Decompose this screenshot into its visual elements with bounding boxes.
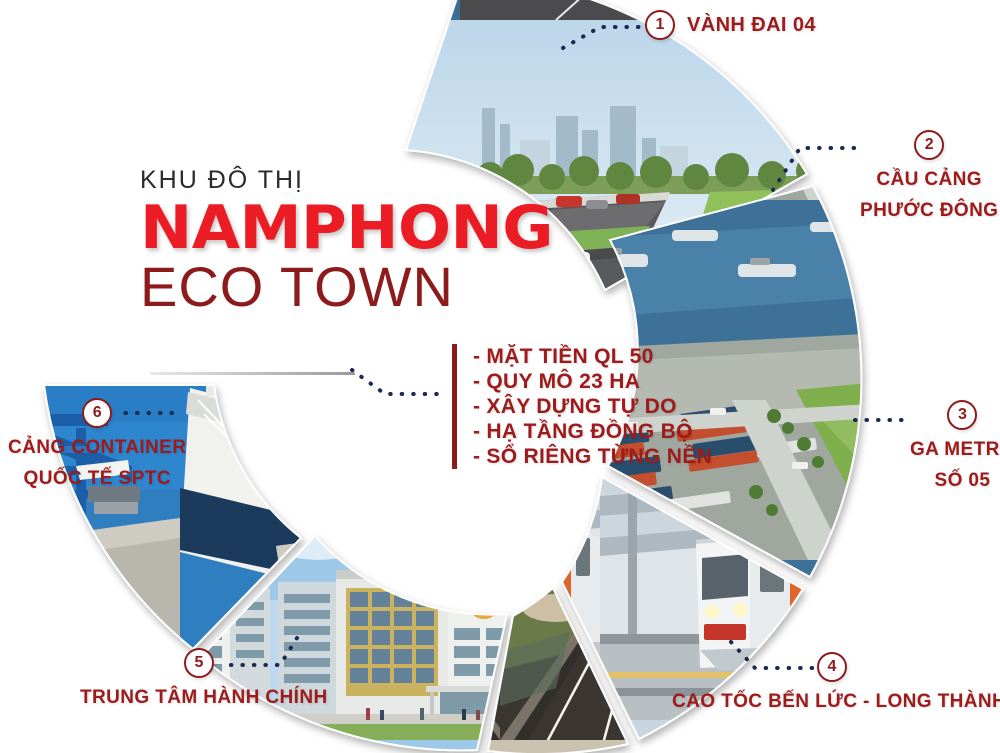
callout-badge-5[interactable]: 5 (184, 648, 214, 678)
callout-label-6: CẢNG CONTAINER (8, 437, 186, 459)
facts-list: - MẶT TIỀN QL 50 - QUY MÔ 23 HA - XÂY DỰ… (452, 344, 712, 469)
callout-6[interactable]: 6 CẢNG CONTAINER QUỐC TẾ SPTC (8, 398, 186, 490)
fact-item: - HẠ TẦNG ĐỒNG BỘ (473, 419, 712, 444)
callout-label-5: TRUNG TÂM HÀNH CHÍNH (80, 687, 328, 709)
callout-1[interactable]: 1 VÀNH ĐAI 04 (645, 10, 816, 40)
callout-label-6-line2: QUỐC TẾ SPTC (8, 468, 186, 490)
callout-badge-4[interactable]: 4 (817, 652, 847, 682)
callout-badge-3[interactable]: 3 (947, 400, 977, 430)
callout-label-2: CẦU CẢNG (860, 169, 998, 191)
infographic-canvas: KHU ĐÔ THỊ NAMPHONG ECO TOWN - MẶT TIỀN … (0, 0, 1000, 753)
brand-title-block: KHU ĐÔ THỊ NAMPHONG ECO TOWN (140, 168, 560, 315)
callout-label-4: CAO TỐC BẾN LỨC - LONG THÀNH (672, 691, 1000, 713)
callout-3[interactable]: 3 GA METRO SỐ 05 (910, 400, 1000, 492)
fact-item: - SỔ RIÊNG TỪNG NỀN (473, 444, 712, 469)
fact-item: - QUY MÔ 23 HA (473, 369, 712, 394)
callout-4[interactable]: 4 CAO TỐC BẾN LỨC - LONG THÀNH (672, 652, 1000, 713)
callout-label-3-line2: SỐ 05 (910, 470, 1000, 492)
callout-badge-2[interactable]: 2 (914, 130, 944, 160)
brand-name: NAMPHONG (140, 201, 577, 256)
callout-label-1: VÀNH ĐAI 04 (687, 14, 816, 36)
callout-badge-6[interactable]: 6 (82, 398, 112, 428)
title-underline (150, 372, 355, 375)
callout-label-3: GA METRO (910, 439, 1000, 461)
brand-subtitle: ECO TOWN (140, 258, 560, 315)
callout-2[interactable]: 2 CẦU CẢNG PHƯỚC ĐÔNG (860, 130, 998, 222)
brand-kicker: KHU ĐÔ THỊ (140, 168, 560, 193)
callout-label-2-line2: PHƯỚC ĐÔNG (860, 200, 998, 222)
fact-item: - XÂY DỰNG TỰ DO (473, 394, 712, 419)
callout-5[interactable]: 5 TRUNG TÂM HÀNH CHÍNH (80, 648, 328, 709)
callout-badge-1[interactable]: 1 (645, 10, 675, 40)
fact-item: - MẶT TIỀN QL 50 (473, 344, 712, 369)
